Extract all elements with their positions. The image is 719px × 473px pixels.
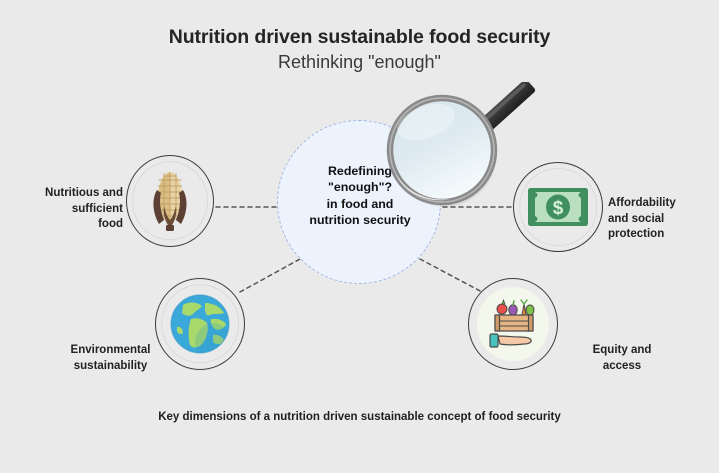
hand-holding-produce-crate-icon — [484, 296, 542, 352]
label-environmental: Environmental sustainability — [33, 343, 188, 374]
infographic-canvas: Nutrition driven sustainable food securi… — [0, 0, 719, 473]
label-equity: Equity and access — [557, 343, 687, 374]
page-title: Nutrition driven sustainable food securi… — [0, 26, 719, 49]
magnifying-glass-icon — [380, 82, 570, 212]
node-equity[interactable] — [468, 278, 558, 370]
label-affordability: Affordability and social protection — [608, 196, 716, 243]
corn-icon — [143, 168, 197, 234]
connector-equity — [420, 259, 482, 292]
page-subtitle: Rethinking "enough" — [0, 51, 719, 74]
figure-caption: Key dimensions of a nutrition driven sus… — [0, 411, 719, 423]
connector-environmental — [240, 259, 300, 292]
node-nutritious[interactable] — [126, 155, 214, 247]
title-block: Nutrition driven sustainable food securi… — [0, 26, 719, 74]
label-nutritious: Nutritious and sufficient food — [8, 186, 123, 233]
